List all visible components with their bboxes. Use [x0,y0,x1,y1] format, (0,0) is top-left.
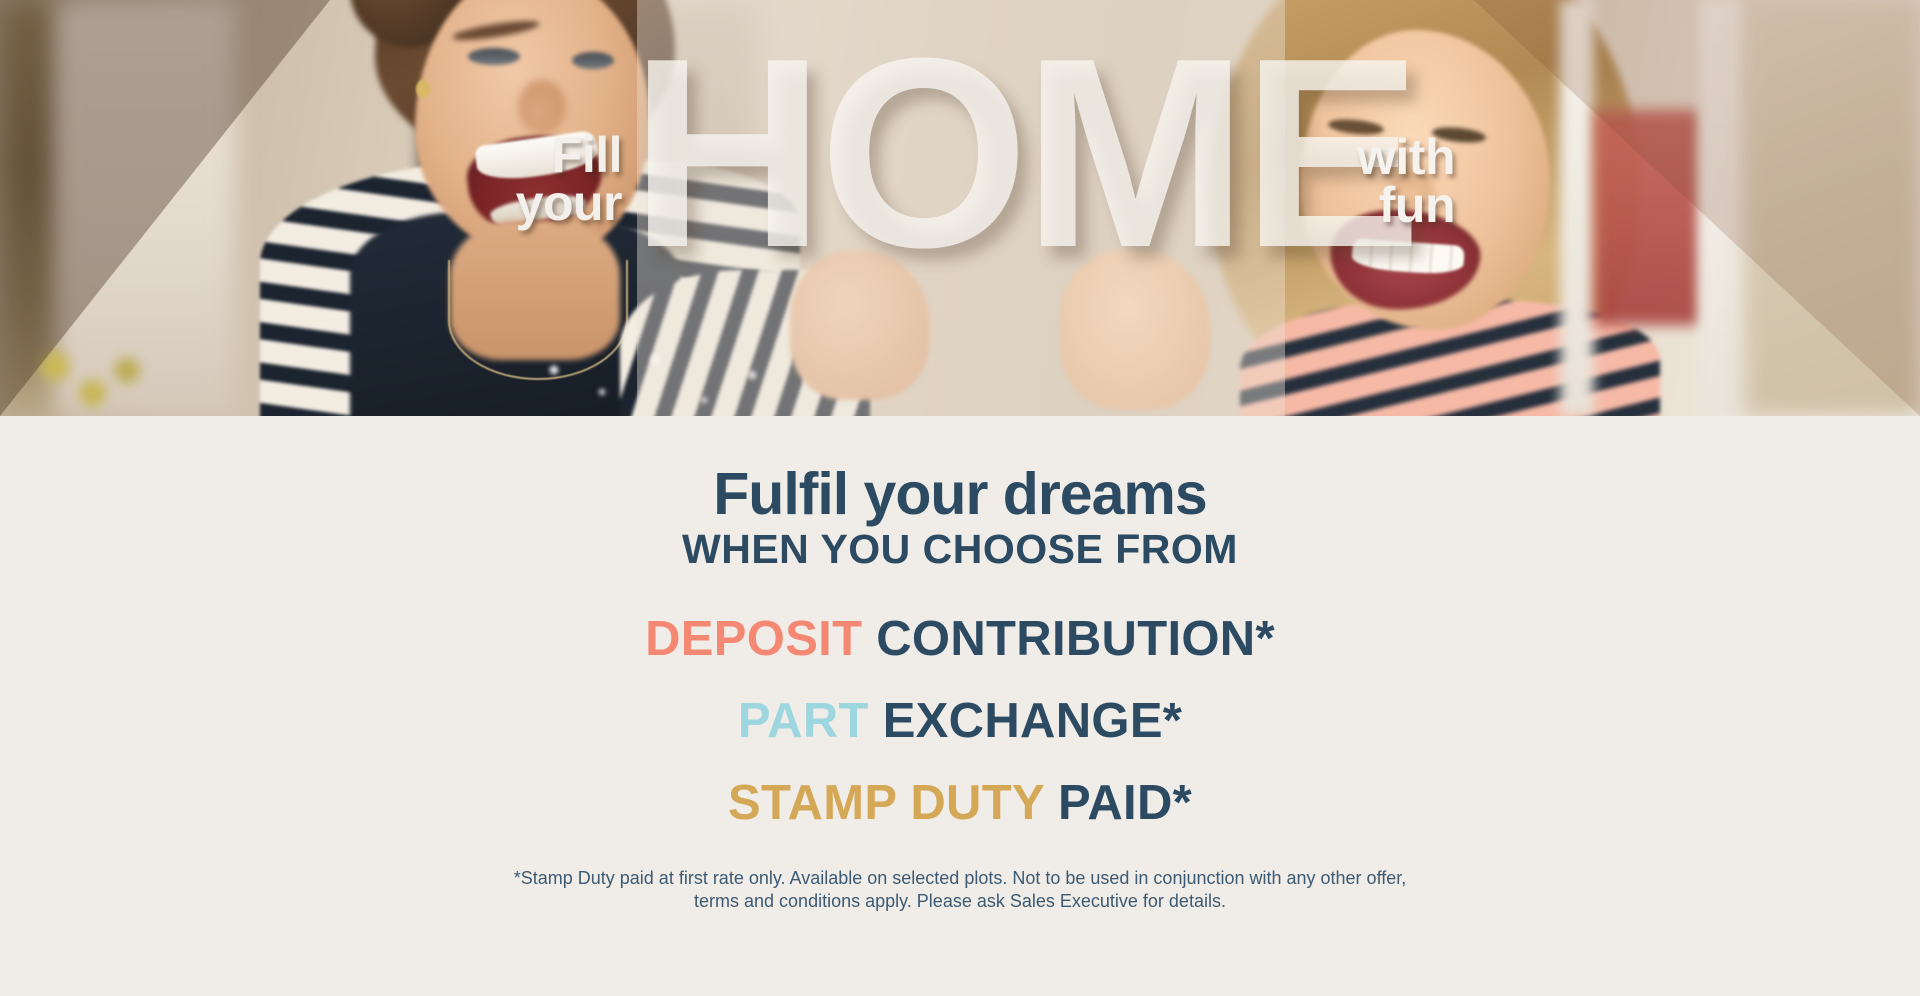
hero-eyebrow-right-line1: with [1325,133,1455,181]
offer-rest-contribution: CONTRIBUTION* [862,612,1275,666]
offers-disclaimer: *Stamp Duty paid at first rate only. Ava… [0,867,1920,913]
offer-item-stamp-duty-paid: STAMP DUTY PAID* [0,775,1920,831]
hero-eyebrow-right: with fun [1325,133,1455,229]
promotional-banner: Fill your HOME with fun Fulfil your drea… [0,0,1920,996]
hero-eyebrow-left-line1: Fill [516,131,622,179]
offers-subheading: WHEN YOU CHOOSE FROM [0,526,1920,573]
offers-heading: Fulfil your dreams [0,460,1920,528]
hero-section: Fill your HOME with fun [0,0,1920,416]
hero-eyebrow-left: Fill your [516,131,622,227]
offers-section: Fulfil your dreams WHEN YOU CHOOSE FROM … [0,416,1920,996]
hero-eyebrow-left-line2: your [516,179,622,227]
offer-item-deposit-contribution: DEPOSIT CONTRIBUTION* [0,611,1920,667]
hero-eyebrow-right-line2: fun [1325,181,1455,229]
disclaimer-line-2: terms and conditions apply. Please ask S… [0,890,1920,913]
offer-rest-exchange: EXCHANGE* [869,694,1182,748]
offer-highlight-part: PART [738,694,869,748]
hero-headline-word: HOME [630,38,1416,270]
hero-text-lockup: Fill your HOME with fun [0,0,1920,416]
offer-item-part-exchange: PART EXCHANGE* [0,693,1920,749]
offer-rest-paid: PAID* [1044,776,1192,830]
offer-highlight-deposit: DEPOSIT [645,612,862,666]
offer-highlight-stamp-duty: STAMP DUTY [728,776,1044,830]
disclaimer-line-1: *Stamp Duty paid at first rate only. Ava… [0,867,1920,890]
offers-list: DEPOSIT CONTRIBUTION* PART EXCHANGE* STA… [0,611,1920,831]
